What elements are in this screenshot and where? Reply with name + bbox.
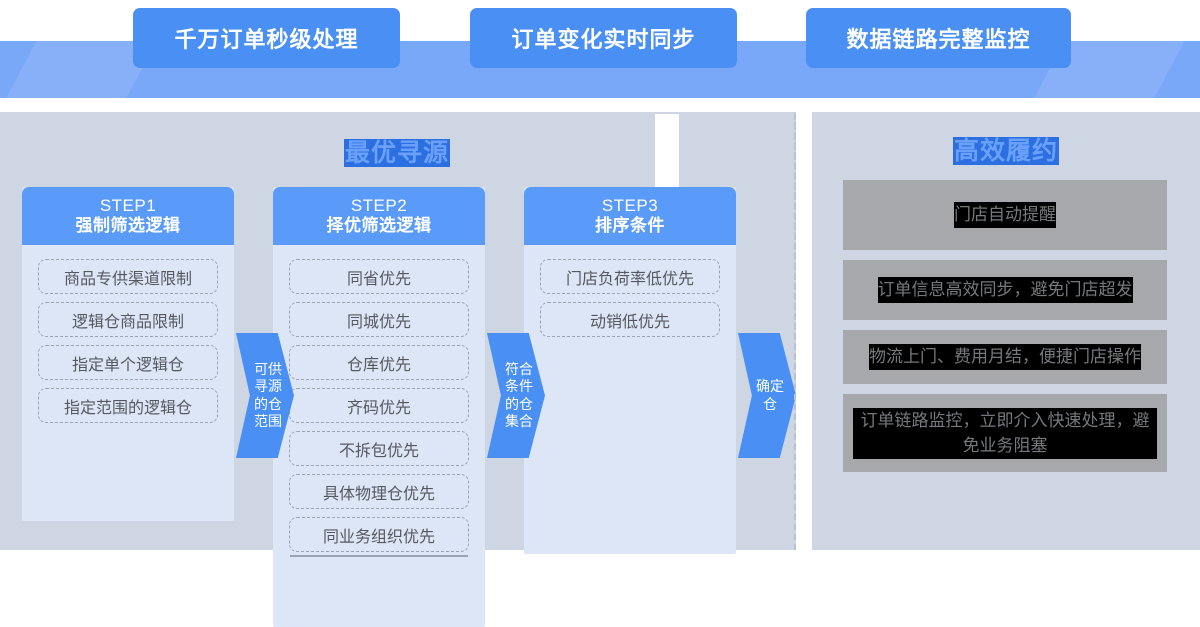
step-2-item[interactable]: 不拆包优先	[289, 431, 469, 466]
step-2-item-selected-wrap: 同业务组织优先	[289, 517, 469, 552]
fulfillment-box-logistics[interactable]: 物流上门、费用月结，便捷门店操作	[843, 330, 1167, 384]
banner-pill-label: 千万订单秒级处理	[174, 22, 358, 54]
step-2-item[interactable]: 同业务组织优先	[289, 517, 469, 552]
fulfillment-box-label: 订单链路监控，立即介入快速处理，避免业务阻塞	[853, 408, 1157, 459]
step-2-item[interactable]: 同城优先	[289, 302, 469, 337]
step-1-number: STEP1	[100, 196, 156, 216]
step-1-item[interactable]: 商品专供渠道限制	[38, 259, 218, 294]
step-2-item[interactable]: 齐码优先	[289, 388, 469, 423]
fulfillment-box-store-auto-reminder[interactable]: 门店自动提醒	[843, 180, 1167, 250]
fulfillment-box-order-sync[interactable]: 订单信息高效同步，避免门店超发	[843, 260, 1167, 320]
banner-pill-throughput[interactable]: 千万订单秒级处理	[133, 8, 400, 68]
banner-pill-group: 千万订单秒级处理 订单变化实时同步 数据链路完整监控	[0, 0, 1200, 98]
banner-pill-label: 订单变化实时同步	[511, 22, 695, 54]
banner-pill-sync[interactable]: 订单变化实时同步	[470, 8, 737, 68]
panel-title-text: 高效履约	[953, 137, 1059, 165]
step-2-subtitle: 择优筛选逻辑	[327, 216, 432, 236]
step-2-item[interactable]: 仓库优先	[289, 345, 469, 380]
chevron-label: 确定 仓	[756, 378, 784, 412]
step-1-item[interactable]: 指定范围的逻辑仓	[38, 388, 218, 423]
step-1-item-list: 商品专供渠道限制 逻辑仓商品限制 指定单个逻辑仓 指定范围的逻辑仓	[22, 245, 234, 423]
step-2-item[interactable]: 具体物理仓优先	[289, 474, 469, 509]
panels-container: 最优寻源 STEP1 强制筛选逻辑 商品专供渠道限制 逻辑仓商品限制 指定单个逻…	[0, 112, 1200, 552]
step-3-item[interactable]: 门店负荷率低优先	[540, 259, 720, 294]
fulfillment-box-label: 物流上门、费用月结，便捷门店操作	[869, 344, 1141, 370]
step-2-item[interactable]: 同省优先	[289, 259, 469, 294]
fulfillment-box-order-chain-monitoring[interactable]: 订单链路监控，立即介入快速处理，避免业务阻塞	[843, 394, 1167, 472]
chevron-label: 符合 条件 的仓 集合	[505, 361, 533, 429]
step-3-subtitle: 排序条件	[595, 216, 665, 236]
fulfillment-box-label: 订单信息高效同步，避免门店超发	[878, 277, 1133, 303]
panel-title-optimal-sourcing: 最优寻源	[0, 141, 794, 166]
step-2-item-list: 同省优先 同城优先 仓库优先 齐码优先 不拆包优先 具体物理仓优先 同业务组织优…	[273, 245, 485, 552]
panel-title-text: 最优寻源	[344, 139, 450, 167]
panel-title-efficient-fulfillment: 高效履约	[812, 139, 1200, 164]
step-2-number: STEP2	[351, 196, 407, 216]
step-3-item-list: 门店负荷率低优先 动销低优先	[524, 245, 736, 337]
step-2-header: STEP2 择优筛选逻辑	[273, 187, 485, 245]
step-3-item[interactable]: 动销低优先	[540, 302, 720, 337]
step-3-number: STEP3	[602, 196, 658, 216]
step-1-subtitle: 强制筛选逻辑	[76, 216, 181, 236]
panel-optimal-sourcing: 最优寻源 STEP1 强制筛选逻辑 商品专供渠道限制 逻辑仓商品限制 指定单个逻…	[0, 112, 796, 550]
banner-pill-label: 数据链路完整监控	[846, 22, 1030, 54]
fulfillment-box-label: 门店自动提醒	[954, 202, 1056, 228]
step-card-2: STEP2 择优筛选逻辑 同省优先 同城优先 仓库优先 齐码优先 不拆包优先 具…	[273, 187, 485, 627]
chevron-label: 可供 寻源 的仓 范围	[254, 361, 282, 429]
step-card-3: STEP3 排序条件 门店负荷率低优先 动销低优先	[524, 187, 736, 554]
step-3-header: STEP3 排序条件	[524, 187, 736, 245]
step-card-1: STEP1 强制筛选逻辑 商品专供渠道限制 逻辑仓商品限制 指定单个逻辑仓 指定…	[22, 187, 234, 521]
chevron-arrow-step3-to-result: 确定 仓	[738, 333, 796, 458]
banner-pill-monitoring[interactable]: 数据链路完整监控	[806, 8, 1071, 68]
panel-efficient-fulfillment: 高效履约 门店自动提醒 订单信息高效同步，避免门店超发 物流上门、费用月结，便捷…	[812, 112, 1200, 550]
step-1-header: STEP1 强制筛选逻辑	[22, 187, 234, 245]
step-1-item[interactable]: 逻辑仓商品限制	[38, 302, 218, 337]
step-1-item[interactable]: 指定单个逻辑仓	[38, 345, 218, 380]
